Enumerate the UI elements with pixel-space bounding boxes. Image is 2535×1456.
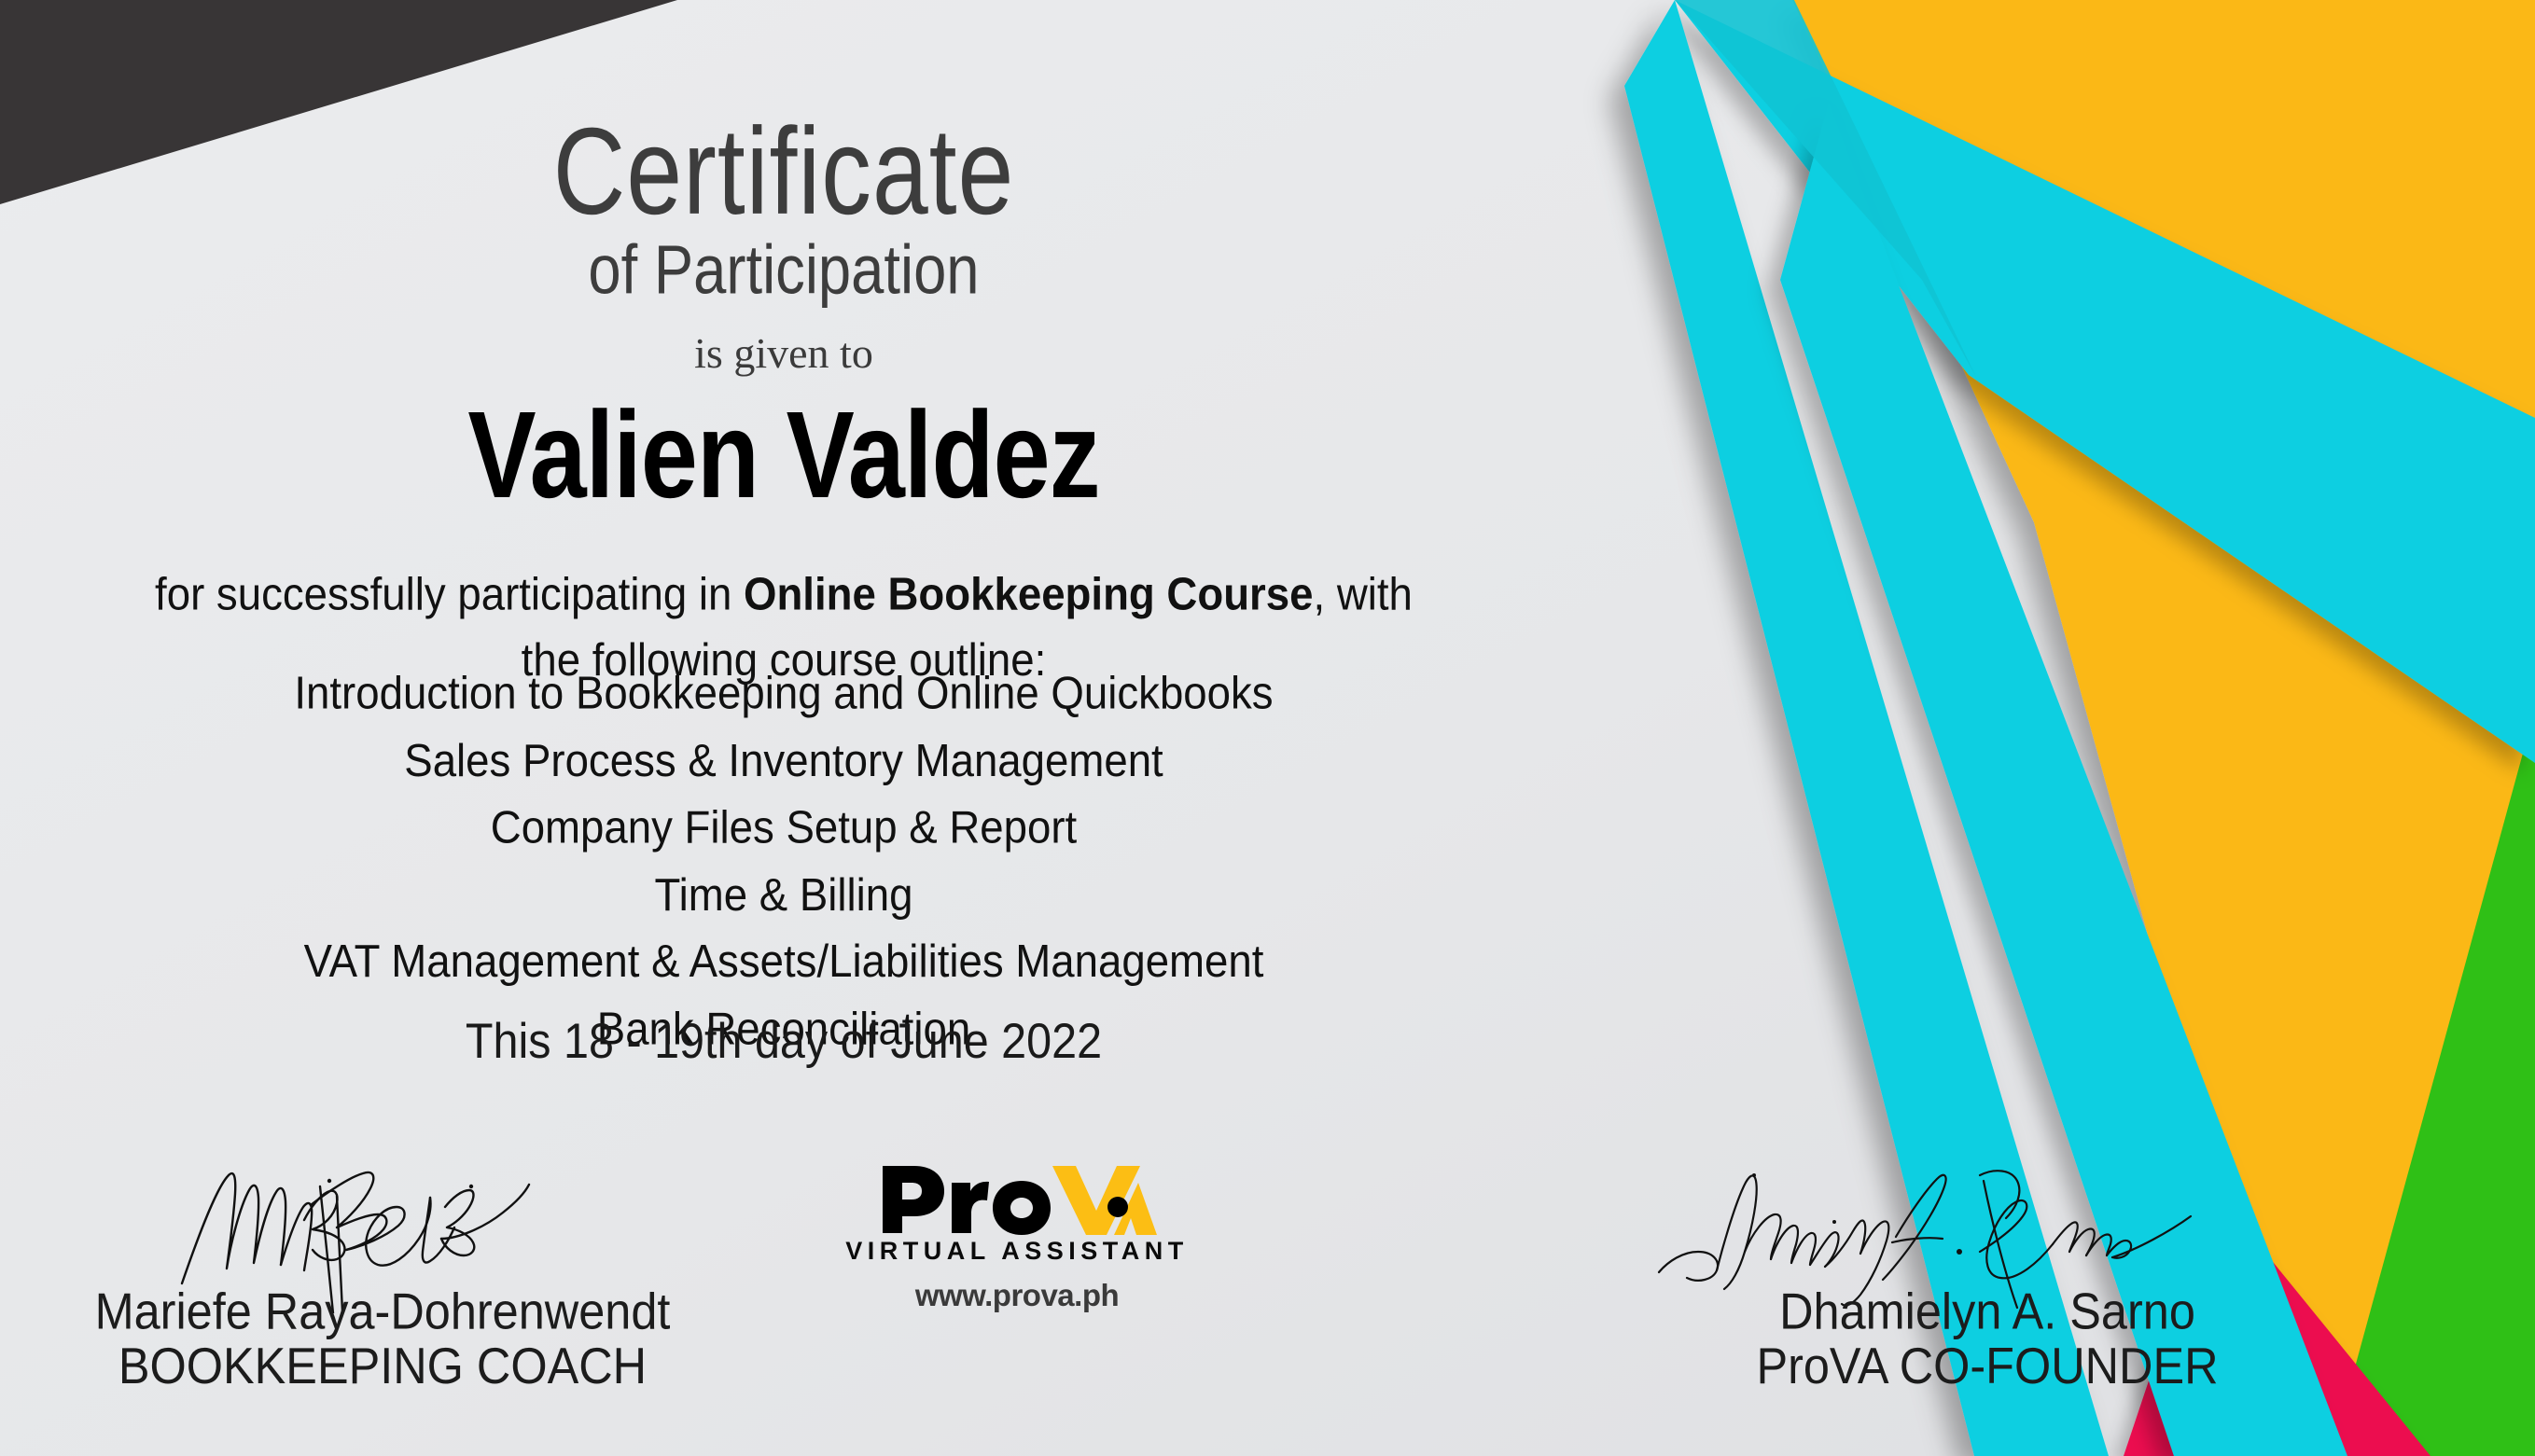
recipient-name: Valien Valdez [55, 384, 1512, 526]
signature-right-text: Dhamielyn A. Sarno ProVA CO-FOUNDER [1595, 1285, 2379, 1394]
list-item: Time & Billing [77, 861, 1489, 928]
signer-name-left: Mariefe Raya-Dohrenwendt [3, 1285, 763, 1339]
list-item: Sales Process & Inventory Management [77, 727, 1489, 794]
signature-block-left: Mariefe Raya-Dohrenwendt BOOKKEEPING COA… [0, 1173, 774, 1282]
signature-left-text: Mariefe Raya-Dohrenwendt BOOKKEEPING COA… [0, 1285, 774, 1394]
certificate-document: Certificate of Participation is given to… [0, 0, 2535, 1456]
prova-logo: VIRTUAL ASSISTANT www.prova.ph [821, 1164, 1213, 1313]
signer-role-right: ProVA CO-FOUNDER [1608, 1337, 2368, 1397]
prova-website-url: www.prova.ph [821, 1278, 1213, 1313]
issue-date: This 18 - 19th day of June 2022 [77, 1012, 1489, 1069]
list-item: Company Files Setup & Report [77, 794, 1489, 861]
signature-block-right: Dhamielyn A. Sarno ProVA CO-FOUNDER [1595, 1173, 2379, 1282]
logo-dot [1107, 1197, 1128, 1217]
list-item: VAT Management & Assets/Liabilities Mana… [77, 928, 1489, 995]
page-subtitle: of Participation [32, 235, 1537, 304]
course-outline-list: Introduction to Bookkeeping and Online Q… [77, 659, 1489, 1062]
list-item: Introduction to Bookkeeping and Online Q… [77, 659, 1489, 727]
signer-name-right: Dhamielyn A. Sarno [1608, 1285, 2368, 1339]
certificate-title-group: Certificate of Participation [0, 110, 1567, 297]
prova-logo-mark [877, 1164, 1157, 1235]
course-name: Online Bookkeeping Course [744, 567, 1314, 619]
prova-logo-tagline: VIRTUAL ASSISTANT [821, 1237, 1213, 1266]
body-prefix: for successfully participating in [155, 567, 744, 619]
given-to-label: is given to [0, 328, 1567, 378]
page-title: Certificate [32, 110, 1537, 233]
signer-role-left: BOOKKEEPING COACH [3, 1337, 763, 1397]
